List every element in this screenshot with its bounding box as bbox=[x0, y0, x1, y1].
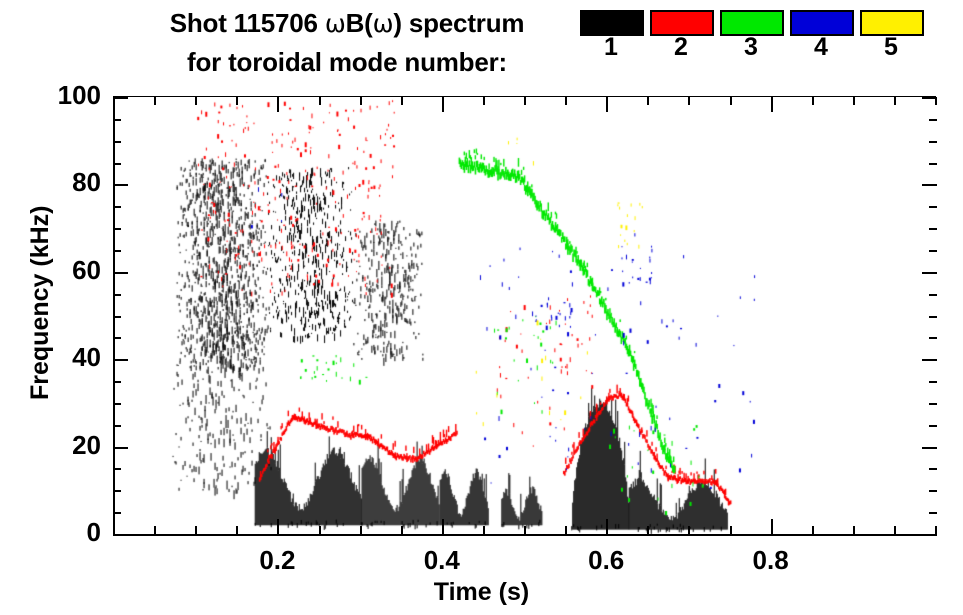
x-tick-minor-top bbox=[401, 97, 403, 105]
y-tick-minor-right bbox=[929, 316, 937, 318]
y-tick-minor-right bbox=[929, 163, 937, 165]
y-tick-minor bbox=[113, 468, 121, 470]
x-tick-minor bbox=[236, 526, 238, 534]
x-tick-minor-top bbox=[688, 97, 690, 105]
x-tick-label: 0.6 bbox=[566, 545, 646, 576]
x-tick-major bbox=[606, 519, 608, 534]
x-tick-major-top bbox=[277, 97, 279, 112]
x-tick-minor bbox=[483, 526, 485, 534]
y-tick-minor-right bbox=[929, 512, 937, 514]
x-tick-label: 0.4 bbox=[402, 545, 482, 576]
x-tick-minor bbox=[730, 526, 732, 534]
y-tick-minor bbox=[113, 250, 121, 252]
x-tick-major-top bbox=[606, 97, 608, 112]
title-b-text: B( bbox=[346, 8, 373, 38]
y-tick-minor bbox=[113, 425, 121, 427]
y-tick-minor-right bbox=[929, 119, 937, 121]
plot-area bbox=[113, 97, 937, 536]
legend-item-2[interactable]: 2 bbox=[650, 10, 714, 36]
legend-label-4: 4 bbox=[814, 35, 828, 60]
y-tick-major-right bbox=[922, 97, 937, 99]
x-tick-minor-top bbox=[195, 97, 197, 105]
x-tick-minor bbox=[154, 526, 156, 534]
x-tick-major-top bbox=[771, 97, 773, 112]
x-tick-minor bbox=[935, 526, 937, 534]
y-tick-minor bbox=[113, 512, 121, 514]
y-tick-minor-right bbox=[929, 141, 937, 143]
x-tick-minor bbox=[853, 526, 855, 534]
y-tick-major bbox=[113, 97, 128, 99]
y-tick-major-right bbox=[922, 184, 937, 186]
legend-item-5[interactable]: 5 bbox=[860, 10, 924, 36]
y-tick-minor-right bbox=[929, 294, 937, 296]
y-tick-minor-right bbox=[929, 250, 937, 252]
x-tick-minor-top bbox=[730, 97, 732, 105]
y-tick-minor bbox=[113, 337, 121, 339]
legend-label-3: 3 bbox=[744, 35, 758, 60]
x-tick-major-top bbox=[442, 97, 444, 112]
title-line-1: Shot 115706 ωB(ω) spectrum bbox=[112, 4, 582, 43]
y-tick-minor-right bbox=[929, 468, 937, 470]
legend-item-3[interactable]: 3 bbox=[720, 10, 784, 36]
y-tick-major bbox=[113, 184, 128, 186]
x-tick-minor-top bbox=[647, 97, 649, 105]
y-tick-minor bbox=[113, 163, 121, 165]
y-tick-minor-right bbox=[929, 403, 937, 405]
x-tick-minor-top bbox=[360, 97, 362, 105]
title-spectrum-text: ) spectrum bbox=[393, 8, 524, 38]
y-tick-minor-right bbox=[929, 490, 937, 492]
x-tick-minor bbox=[401, 526, 403, 534]
x-axis-title: Time (s) bbox=[0, 578, 963, 607]
y-tick-minor bbox=[113, 206, 121, 208]
y-tick-label: 100 bbox=[31, 80, 101, 111]
x-tick-minor-top bbox=[853, 97, 855, 105]
legend-item-4[interactable]: 4 bbox=[790, 10, 854, 36]
x-tick-minor-top bbox=[154, 97, 156, 105]
legend-label-2: 2 bbox=[674, 35, 688, 60]
omega-symbol-2: ω bbox=[373, 9, 394, 38]
y-tick-minor bbox=[113, 490, 121, 492]
y-tick-major-right bbox=[922, 534, 937, 536]
y-tick-minor bbox=[113, 316, 121, 318]
omega-symbol-1: ω bbox=[325, 9, 346, 38]
chart-title: Shot 115706 ωB(ω) spectrum for toroidal … bbox=[112, 4, 582, 81]
x-tick-major bbox=[277, 519, 279, 534]
y-tick-minor bbox=[113, 119, 121, 121]
y-tick-major bbox=[113, 447, 128, 449]
y-tick-minor-right bbox=[929, 206, 937, 208]
legend-label-5: 5 bbox=[884, 35, 898, 60]
x-tick-minor bbox=[688, 526, 690, 534]
spectrogram-canvas bbox=[115, 97, 937, 534]
legend-label-1: 1 bbox=[604, 35, 618, 60]
x-tick-minor bbox=[360, 526, 362, 534]
y-tick-major-right bbox=[922, 447, 937, 449]
y-tick-minor bbox=[113, 228, 121, 230]
x-tick-minor bbox=[319, 526, 321, 534]
x-tick-label: 0.8 bbox=[731, 545, 811, 576]
x-tick-label: 0.2 bbox=[237, 545, 317, 576]
title-line-2: for toroidal mode number: bbox=[112, 43, 582, 81]
y-tick-minor bbox=[113, 141, 121, 143]
y-tick-major-right bbox=[922, 359, 937, 361]
x-tick-minor-top bbox=[319, 97, 321, 105]
y-tick-major-right bbox=[922, 272, 937, 274]
y-tick-label: 80 bbox=[31, 167, 101, 198]
x-tick-minor-top bbox=[483, 97, 485, 105]
y-tick-minor bbox=[113, 294, 121, 296]
x-tick-minor bbox=[113, 526, 115, 534]
y-tick-minor bbox=[113, 381, 121, 383]
x-tick-minor-top bbox=[236, 97, 238, 105]
y-tick-minor-right bbox=[929, 425, 937, 427]
x-tick-minor bbox=[894, 526, 896, 534]
y-tick-minor-right bbox=[929, 337, 937, 339]
x-tick-major bbox=[442, 519, 444, 534]
y-tick-major bbox=[113, 359, 128, 361]
x-tick-minor bbox=[812, 526, 814, 534]
x-tick-minor bbox=[565, 526, 567, 534]
y-tick-label: 20 bbox=[31, 430, 101, 461]
legend-item-1[interactable]: 1 bbox=[580, 10, 644, 36]
y-tick-major bbox=[113, 272, 128, 274]
x-tick-minor bbox=[524, 526, 526, 534]
y-tick-minor-right bbox=[929, 381, 937, 383]
y-tick-minor bbox=[113, 403, 121, 405]
y-tick-major bbox=[113, 534, 128, 536]
x-tick-minor bbox=[647, 526, 649, 534]
x-tick-minor-top bbox=[812, 97, 814, 105]
y-tick-minor-right bbox=[929, 228, 937, 230]
y-tick-label: 0 bbox=[31, 517, 101, 548]
x-tick-minor-top bbox=[524, 97, 526, 105]
y-axis-title: Frequency (kHz) bbox=[26, 206, 55, 400]
x-tick-major bbox=[771, 519, 773, 534]
x-tick-minor bbox=[195, 526, 197, 534]
x-tick-minor-top bbox=[565, 97, 567, 105]
x-tick-minor-top bbox=[894, 97, 896, 105]
title-shot-text: Shot 115706 bbox=[170, 8, 325, 38]
